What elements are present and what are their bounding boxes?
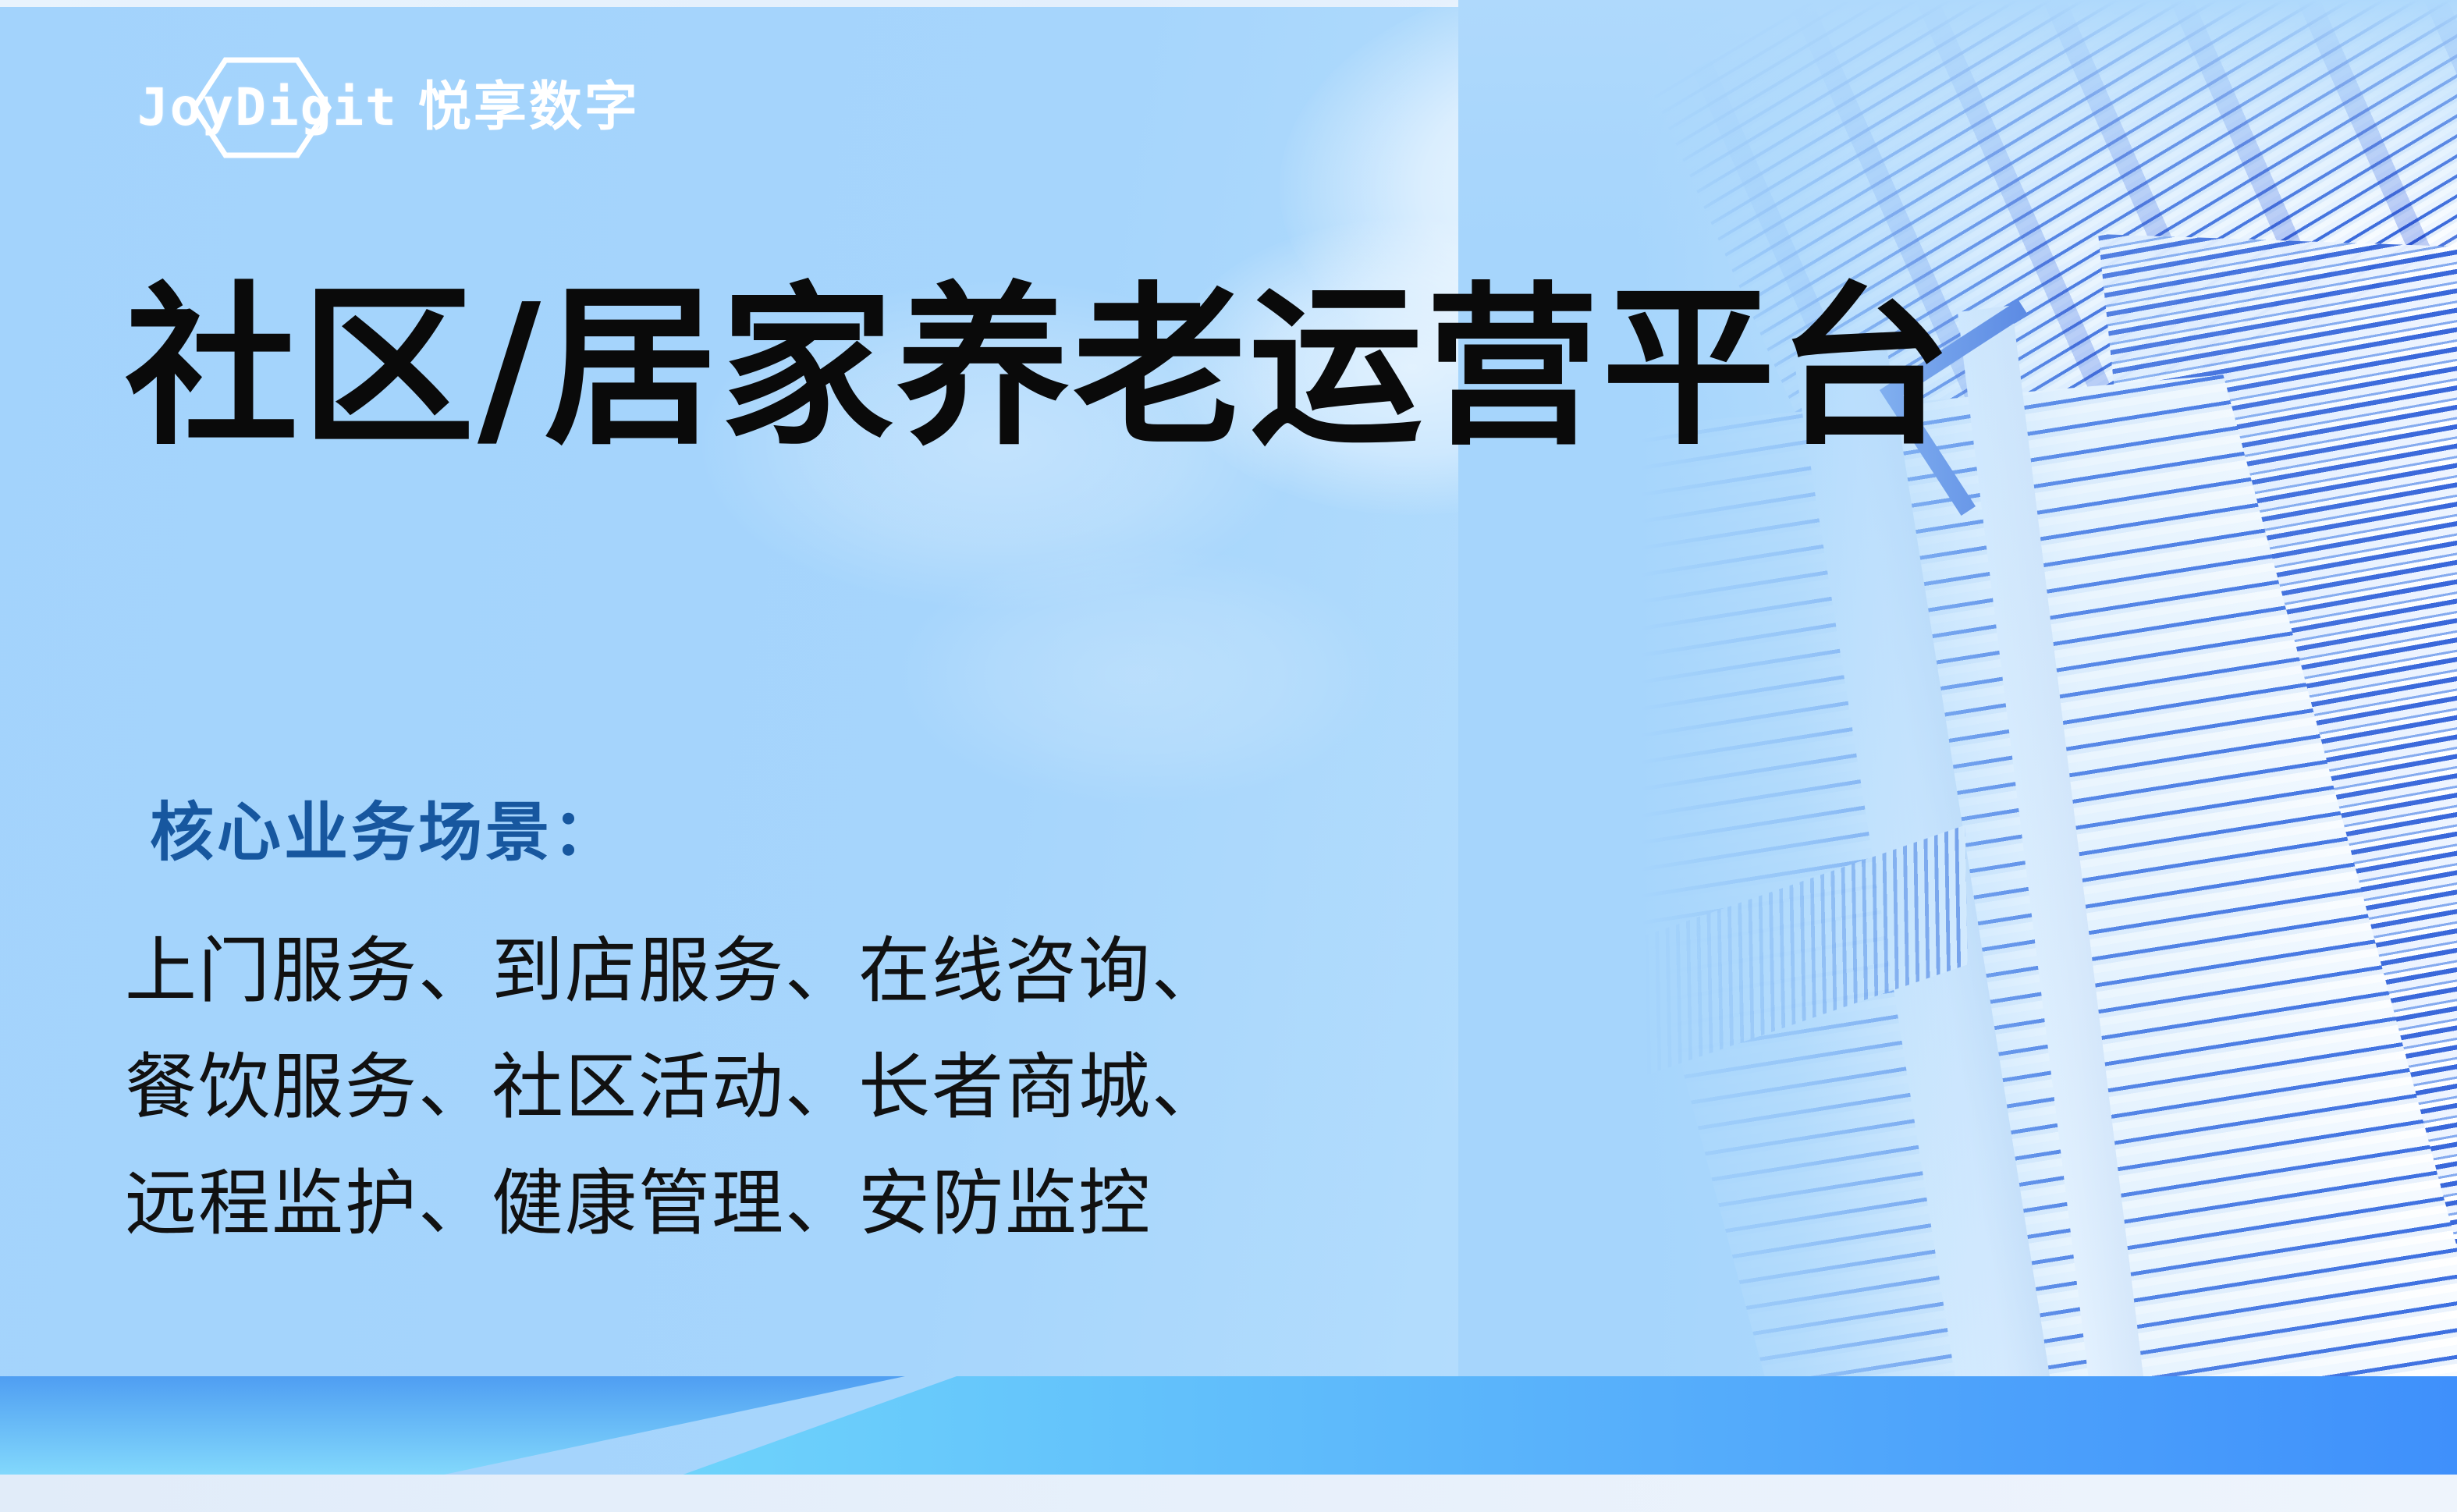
top-edge-strip (0, 0, 2457, 7)
sky-background (0, 0, 2457, 1512)
slide-canvas: JoyDigit 悦享数字 社区/居家养老运营平台 核心业务场景： 上门服务、到… (0, 0, 2457, 1512)
brand-logo: JoyDigit 悦享数字 (137, 67, 640, 148)
logo-wordmark-latin: JoyDigit (137, 82, 398, 133)
footer-bottom-strip (0, 1475, 2457, 1512)
scenario-list: 上门服务、到店服务、在线咨询、 餐饮服务、社区活动、长者商城、 远程监护、健康管… (125, 913, 1225, 1262)
scenario-line: 远程监护、健康管理、安防监控 (125, 1145, 1225, 1262)
scenario-line: 餐饮服务、社区活动、长者商城、 (125, 1029, 1225, 1145)
page-title: 社区/居家养老运营平台 (125, 278, 1955, 460)
logo-wordmark-cn: 悦享数字 (418, 81, 640, 134)
scenario-line: 上门服务、到店服务、在线咨询、 (125, 913, 1225, 1029)
section-heading: 核心业务场景： (150, 780, 620, 873)
